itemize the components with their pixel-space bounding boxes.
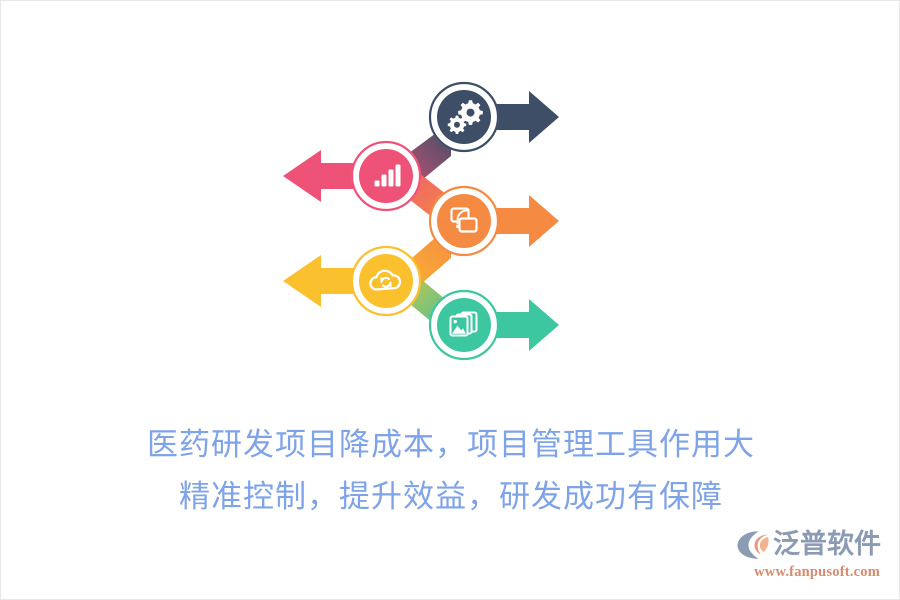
brand-logo[interactable]: 泛普软件 www.fanpusoft.com bbox=[731, 527, 881, 585]
logo-brand-text: 泛普软件 bbox=[773, 530, 881, 560]
node-photo-gallery[interactable] bbox=[429, 290, 499, 360]
node-bar-chart[interactable] bbox=[351, 141, 421, 211]
node-gears[interactable] bbox=[429, 82, 499, 152]
headline-line-2: 精准控制，提升效益，研发成功有保障 bbox=[1, 471, 900, 523]
photo-gallery-icon bbox=[451, 313, 477, 336]
logo-row: 泛普软件 bbox=[731, 527, 881, 563]
infographic-page: 医药研发项目降成本，项目管理工具作用大 精准控制，提升效益，研发成功有保障 泛普… bbox=[0, 0, 900, 600]
node-cloud-sync[interactable] bbox=[351, 246, 421, 316]
five-branch-arrow-diagram bbox=[271, 66, 571, 366]
logo-url-text: www.fanpusoft.com bbox=[731, 563, 881, 581]
fanpu-arc-logo-icon bbox=[736, 530, 770, 560]
node-screen-cast[interactable] bbox=[429, 186, 499, 256]
headline-block: 医药研发项目降成本，项目管理工具作用大 精准控制，提升效益，研发成功有保障 bbox=[1, 419, 900, 523]
headline-line-1: 医药研发项目降成本，项目管理工具作用大 bbox=[1, 419, 900, 471]
